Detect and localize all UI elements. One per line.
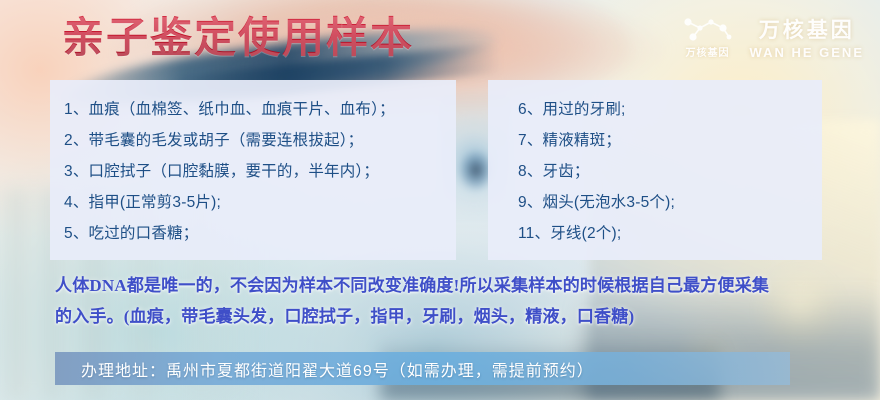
logo-mark: 万核基因 bbox=[680, 16, 736, 59]
sample-list-left: 1、血痕（血棉签、纸巾血、血痕干片、血布）； 2、带毛囊的毛发或胡子（需要连根拔… bbox=[50, 80, 456, 260]
address-bar: 办理地址：禹州市夏都街道阳翟大道69号（如需办理，需提前预约） bbox=[55, 352, 790, 385]
list-item: 2、带毛囊的毛发或胡子（需要连根拔起）； bbox=[64, 125, 446, 156]
list-item: 9、烟头(无泡水3-5个); bbox=[518, 187, 812, 218]
logo-wordmark: 万核基因 WAN HE GENE bbox=[750, 14, 864, 60]
sample-list-right: 6、用过的牙刷; 7、精液精斑； 8、牙齿； 9、烟头(无泡水3-5个); 11… bbox=[488, 80, 822, 260]
note-line-2: 的入手。(血痕，带毛囊头发，口腔拭子，指甲，牙刷，烟头，精液，口香糖) bbox=[55, 301, 845, 332]
list-item: 5、吃过的口香糖； bbox=[64, 218, 446, 249]
molecule-icon bbox=[680, 16, 736, 42]
promo-poster: 亲子鉴定使用样本 bbox=[0, 0, 880, 400]
logo-name-cn: 万核基因 bbox=[759, 14, 855, 44]
page-title: 亲子鉴定使用样本 bbox=[62, 14, 414, 62]
list-item: 4、指甲(正常剪3-5片); bbox=[64, 187, 446, 218]
logo-name-en: WAN HE GENE bbox=[750, 45, 864, 60]
list-item: 8、牙齿； bbox=[518, 156, 812, 187]
list-item: 7、精液精斑； bbox=[518, 125, 812, 156]
list-item: 1、血痕（血棉签、纸巾血、血痕干片、血布）； bbox=[64, 94, 446, 125]
note-paragraph: 人体DNA都是唯一的，不会因为样本不同改变准确度!所以采集样本的时候根据自己最方… bbox=[55, 270, 845, 332]
list-item: 3、口腔拭子（口腔黏膜，要干的，半年内）； bbox=[64, 156, 446, 187]
list-item: 11、牙线(2个); bbox=[518, 218, 812, 249]
list-item: 6、用过的牙刷; bbox=[518, 94, 812, 125]
logo-mark-label: 万核基因 bbox=[686, 44, 730, 59]
note-line-1: 人体DNA都是唯一的，不会因为样本不同改变准确度!所以采集样本的时候根据自己最方… bbox=[55, 270, 845, 301]
brand-logo: 万核基因 万核基因 WAN HE GENE bbox=[680, 14, 864, 60]
address-text: 办理地址：禹州市夏都街道阳翟大道69号（如需办理，需提前预约） bbox=[81, 357, 594, 381]
